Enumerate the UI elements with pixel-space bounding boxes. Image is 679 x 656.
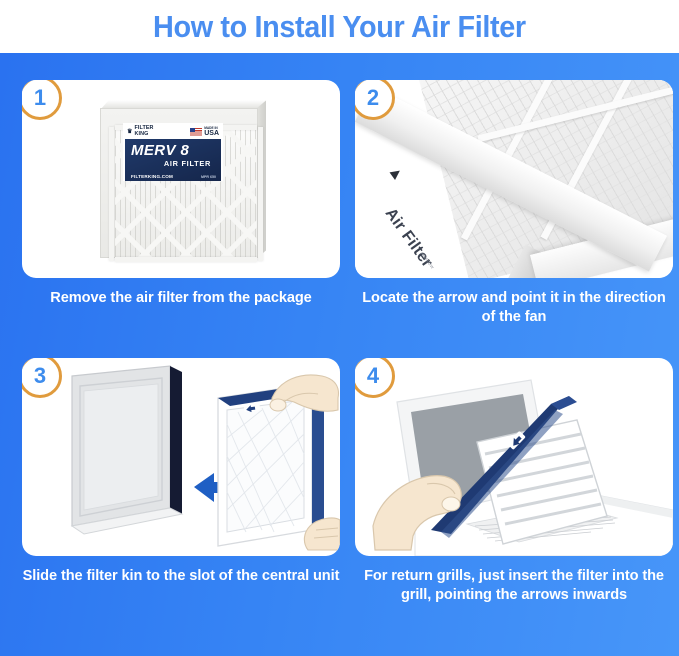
step-4-card: 4 [355, 358, 673, 556]
made-in-usa-mark: MADE IN USA [190, 127, 219, 137]
product-type: AIR FILTER [131, 159, 215, 168]
product-label-header: ♛ FILTER KING [123, 125, 223, 138]
step-2-caption: Locate the arrow and point it in the dir… [355, 289, 673, 328]
return-grill-illustration [355, 358, 673, 556]
airflow-arrow-icon: ▲ [384, 163, 406, 185]
product-label: ♛ FILTER KING [123, 123, 223, 181]
country-text: USA [204, 130, 219, 137]
step-1: 1 [22, 80, 340, 308]
mpr-rating: MPR 650 [201, 175, 216, 179]
step-2-card: 2 ▲ Air Filter AIRFLOW [355, 80, 673, 278]
filter-rail-left [109, 127, 114, 261]
brand-text: FILTER KING [134, 126, 153, 137]
steps-background: 1 [0, 53, 679, 656]
step-4: 4 [355, 358, 673, 606]
infographic-root: How to Install Your Air Filter 1 [0, 0, 679, 656]
website-text: FILTERKING.COM [131, 174, 173, 179]
filter-rail-bottom [115, 257, 257, 262]
title-band: How to Install Your Air Filter [0, 0, 679, 53]
crown-icon: ♛ [127, 129, 132, 135]
slide-filter-illustration [22, 358, 340, 556]
steps-grid: 1 [0, 53, 679, 656]
filter-rail-right [258, 127, 263, 261]
product-label-panel: MERV 8 AIR FILTER FILTERKING.COM MPR 650 [125, 139, 221, 181]
merv-rating: MERV 8 [131, 143, 215, 158]
air-filter-product-image: ♛ FILTER KING [94, 98, 266, 260]
step-1-card: 1 [22, 80, 340, 278]
us-flag-icon [190, 128, 202, 136]
step-1-badge: 1 [22, 80, 62, 120]
hand-top [270, 375, 338, 411]
page-title: How to Install Your Air Filter [153, 9, 526, 45]
step-2: 2 ▲ Air Filter AIRFLOW [355, 80, 673, 328]
step-3: 3 [22, 358, 340, 586]
central-unit-slot [72, 366, 182, 534]
step-4-caption: For return grills, just insert the filte… [355, 567, 673, 606]
step-3-card: 3 [22, 358, 340, 556]
filter-panel [218, 384, 324, 550]
step-1-caption: Remove the air filter from the package [22, 289, 340, 308]
filter-front-face: ♛ FILTER KING [100, 108, 258, 258]
product-label-footer: FILTERKING.COM MPR 650 [131, 174, 216, 179]
filter-corner-image: ▲ Air Filter AIRFLOW [355, 80, 673, 278]
filter-king-logo: ♛ FILTER KING [127, 126, 154, 137]
step-3-caption: Slide the filter kin to the slot of the … [22, 567, 340, 586]
